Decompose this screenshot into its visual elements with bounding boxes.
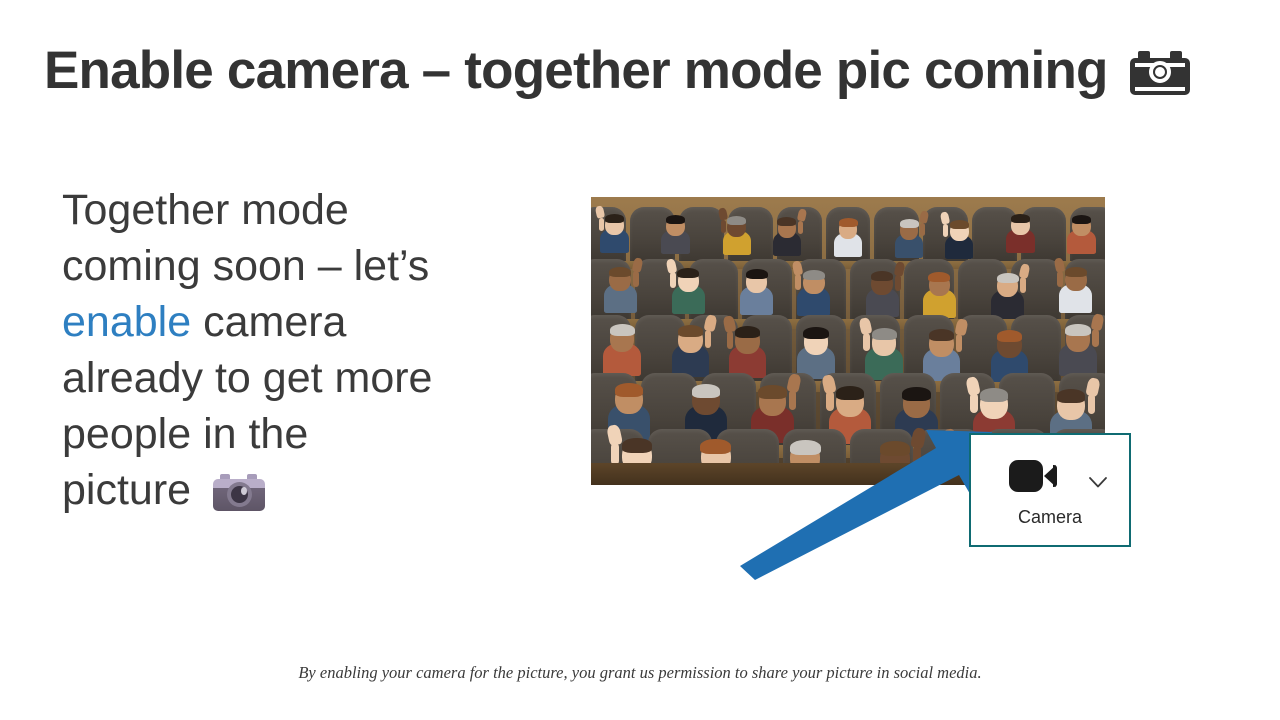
body-after-highlight: camera <box>191 298 346 346</box>
page-title-text: Enable camera – together mode pic coming <box>44 44 1108 97</box>
body-line-4: already to get more <box>62 354 432 402</box>
camera-popup-label: Camera <box>971 507 1129 528</box>
body-line-6: picture <box>62 466 203 514</box>
body-line-2: coming soon – let’s <box>62 242 429 290</box>
camera-emoji <box>213 473 265 511</box>
body-paragraph: Together mode coming soon – let’s enable… <box>62 182 532 518</box>
body-line-1: Together mode <box>62 186 349 234</box>
chevron-down-icon[interactable] <box>1089 477 1107 488</box>
page-title: Enable camera – together mode pic coming <box>44 34 1224 106</box>
highlight-enable: enable <box>62 298 191 346</box>
camera-icon <box>1130 51 1190 95</box>
camera-control-popup[interactable]: Camera <box>969 433 1131 547</box>
footer-disclaimer: By enabling your camera for the picture,… <box>0 663 1280 683</box>
video-camera-icon[interactable] <box>1009 459 1057 493</box>
camera-popup-icon-row <box>971 455 1129 501</box>
body-line-5: people in the <box>62 410 308 458</box>
